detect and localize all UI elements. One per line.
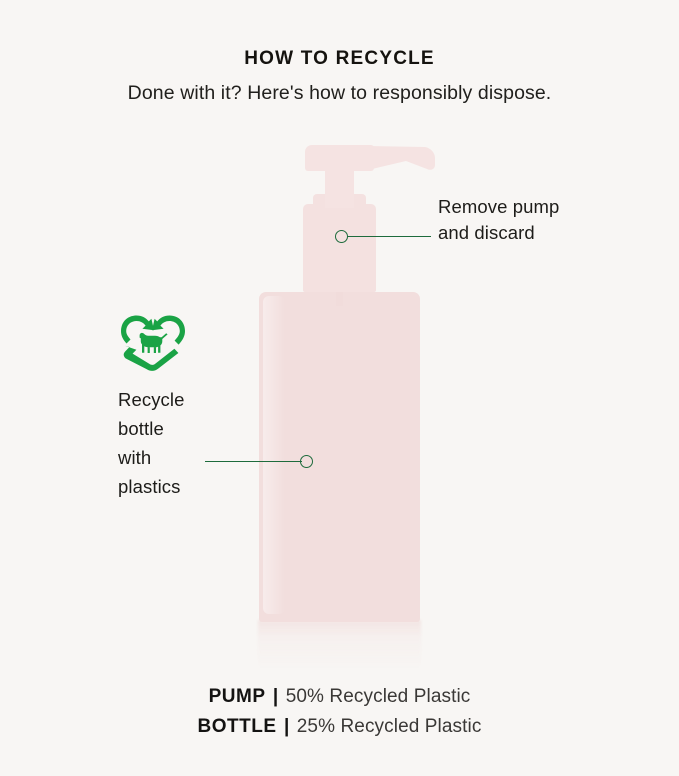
callout-leader-bottle (205, 461, 302, 463)
callout-label-bottle: Recycle bottle with plastics (118, 385, 185, 501)
recycling-instructions-panel: HOW TO RECYCLE Done with it? Here's how … (0, 0, 679, 776)
spec-part-pump: PUMP (209, 686, 266, 707)
spec-part-bottle: BOTTLE (198, 716, 277, 737)
spec-row-pump: PUMP | 50% Recycled Plastic (0, 682, 679, 712)
spec-value-pump: 50% Recycled Plastic (286, 686, 471, 707)
pump-spout-icon (368, 146, 436, 180)
spec-separator-pump: | (271, 686, 280, 707)
callout-label-pump: Remove pump and discard (438, 194, 559, 246)
callout-leader-pump (347, 236, 431, 238)
material-specs: PUMP | 50% Recycled Plastic BOTTLE | 25%… (0, 682, 679, 742)
pump-shaft (325, 168, 354, 208)
bottle-reflection (258, 620, 421, 668)
recycle-heart-dog-logo (120, 312, 186, 372)
bottle-highlight (263, 296, 285, 614)
spec-separator-bottle: | (282, 716, 291, 737)
spec-row-bottle: BOTTLE | 25% Recycled Plastic (0, 712, 679, 742)
pump-head (305, 145, 374, 171)
spec-value-bottle: 25% Recycled Plastic (297, 716, 482, 737)
pump-collar (303, 204, 376, 292)
pump-bottle-illustration: Remove pump and discard Recycle bottle w… (0, 0, 679, 680)
